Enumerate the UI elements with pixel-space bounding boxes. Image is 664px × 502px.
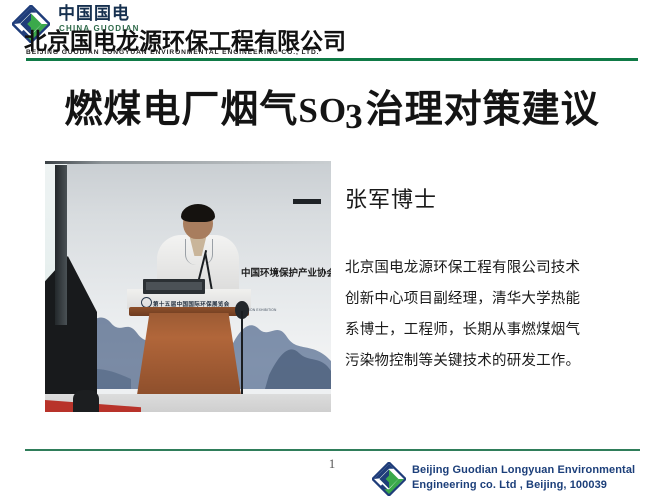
- title-part-2: 治理对策建议: [366, 89, 600, 131]
- photo-backdrop-association-text: 中国环境保护产业协会: [241, 265, 331, 279]
- photo-mic-stand: [241, 311, 243, 397]
- title-formula-subscript: 3: [345, 97, 364, 136]
- slide-header: 中国国电 CHINA GUODIAN 北京国电龙源环保工程有限公司 BEIJIN…: [0, 0, 664, 62]
- speaker-bio-line: 污染物控制等关键技术的研发工作。: [345, 346, 651, 377]
- brand-name-cn: 中国国电: [58, 4, 130, 24]
- footer-divider: [25, 449, 640, 451]
- speaker-bio-line: 系博士，工程师，长期从事燃煤烟气: [345, 315, 651, 346]
- photo-top-bar: [45, 161, 331, 164]
- speaker-bio-line: 北京国电龙源环保工程有限公司技术: [345, 253, 651, 284]
- speaker-bio: 北京国电龙源环保工程有限公司技术 创新中心项目副经理，清华大学热能 系博士，工程…: [345, 253, 651, 377]
- title-formula-so: SO: [298, 91, 347, 130]
- speaker-bio-line: 创新中心项目副经理，清华大学热能: [345, 284, 651, 315]
- photo-laptop-keyboard: [146, 282, 202, 290]
- presenter-photo: 中国环境保护产业协会 第十五届中国国际环保展览会 CHINA INTERNATI…: [45, 161, 331, 412]
- speaker-name: 张军博士: [345, 182, 437, 214]
- photo-presenter-hair: [181, 204, 215, 222]
- footer-company-address: Beijing Guodian Longyuan Environmental E…: [412, 463, 635, 493]
- company-name-en: BEIJING GUODIAN LONGYUAN ENVIRONMENTAL E…: [26, 49, 319, 56]
- photo-foreground-figure: [73, 390, 99, 412]
- title-part-1: 燃煤电厂烟气: [64, 89, 298, 131]
- photo-side-panel: [55, 165, 67, 325]
- photo-wall-marker: [293, 199, 321, 204]
- photo-presenter-lanyard: [185, 239, 213, 265]
- footer-guodian-diamond-logo-icon: [372, 462, 406, 496]
- footer-line-2: Engineering co. Ltd , Beijing, 100039: [412, 478, 635, 493]
- header-divider: [26, 58, 638, 61]
- page-title: 燃煤电厂烟气SO3治理对策建议: [0, 78, 664, 133]
- photo-podium: [137, 313, 241, 395]
- footer-line-1: Beijing Guodian Longyuan Environmental: [412, 463, 635, 478]
